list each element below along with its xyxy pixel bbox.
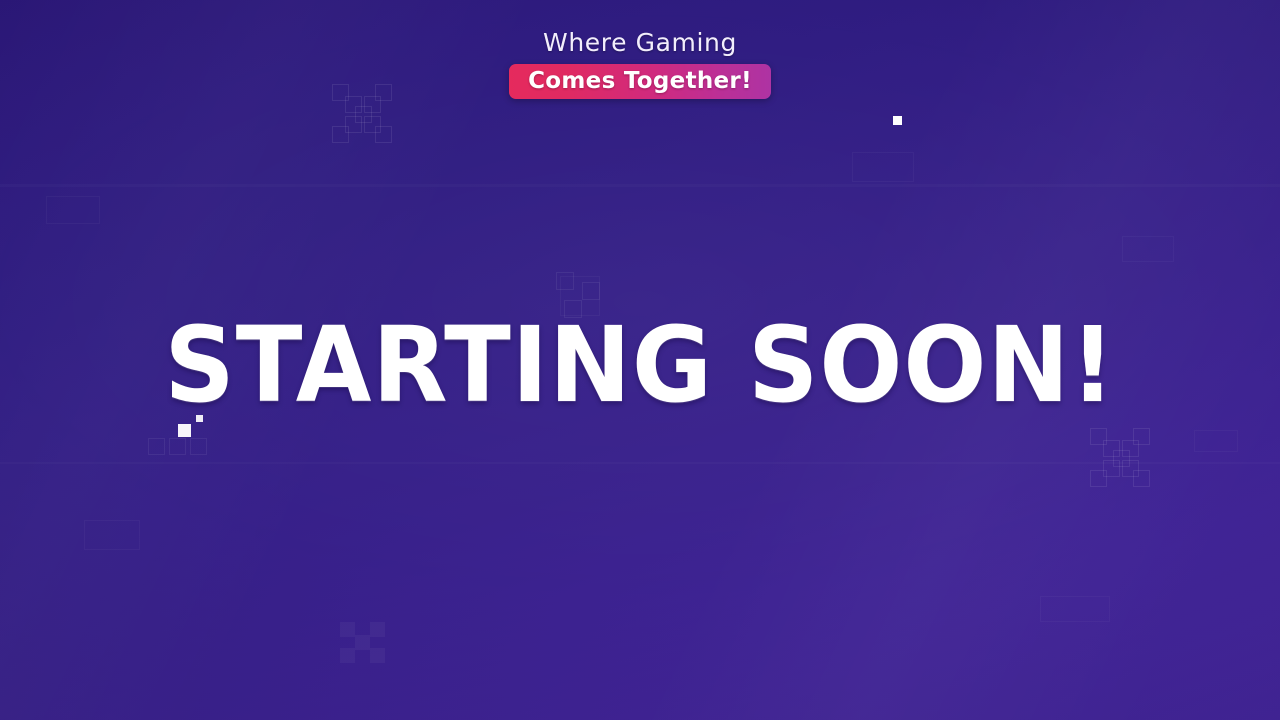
header-lockup: Where Gaming Comes Together! (0, 30, 1280, 99)
ghost-rect-mid-right (1122, 236, 1174, 262)
ghost-rect-left (46, 196, 100, 224)
ghost-band-mid (0, 462, 1280, 464)
pixel-row-lower-left (148, 438, 212, 458)
ghost-band-upper (0, 184, 1280, 187)
headline-container: STARTING SOON! (0, 318, 1280, 414)
ghost-rect-upper-right (852, 152, 914, 182)
starting-soon-headline: STARTING SOON! (164, 318, 1115, 414)
pixel-cluster-bottom-right (1086, 426, 1162, 488)
ghost-rect-lower-right (1194, 430, 1238, 452)
tagline-badge-label: Comes Together! (528, 70, 752, 93)
pixel-cluster-bottom-center (336, 620, 396, 670)
tagline-kicker: Where Gaming (543, 30, 737, 55)
ghost-rect-lower-left (84, 520, 140, 550)
ghost-rect-bottom-right (1040, 596, 1110, 622)
accent-marker-top-right (893, 116, 902, 125)
tagline-badge: Comes Together! (509, 64, 771, 99)
overlay-canvas: Where Gaming Comes Together! STARTING SO… (0, 0, 1280, 720)
